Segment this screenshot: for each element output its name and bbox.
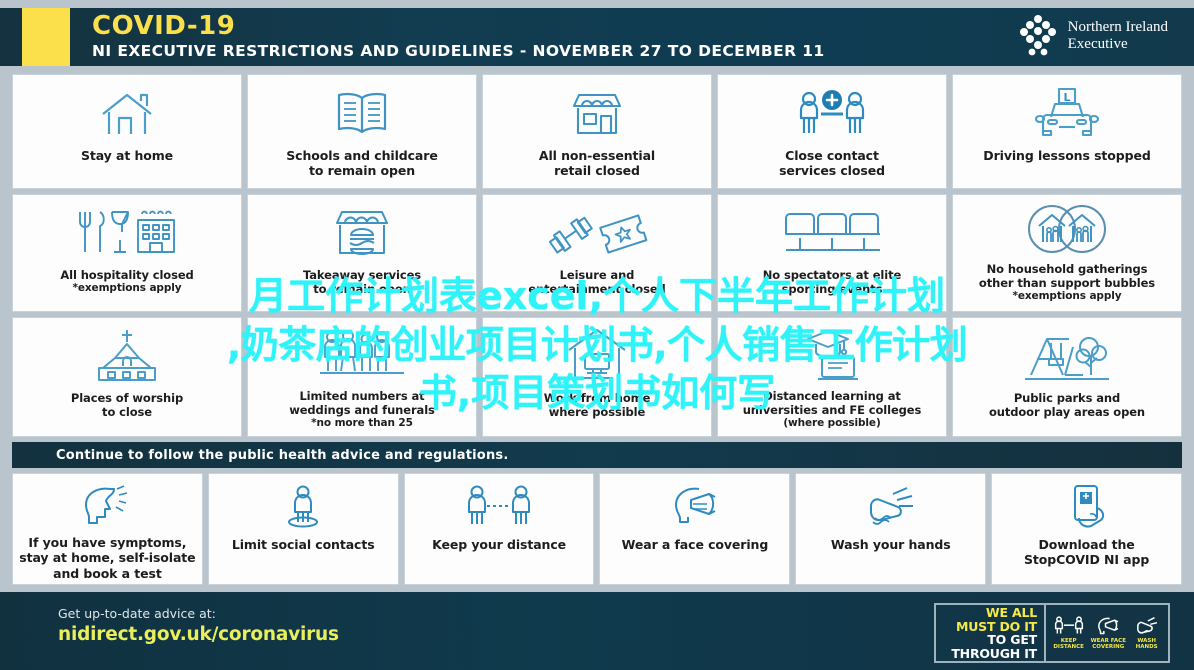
guideline-label: Distanced learning atuniversities and FE… [743,389,922,430]
badge-line-2: MUST DO IT [956,620,1037,634]
wear-face-covering-icon [1095,616,1121,636]
guideline-label: Takeaway servicesto remain open [303,268,421,296]
public-health-banner-text: Continue to follow the public health adv… [56,448,508,463]
guideline-label: Public parks andoutdoor play areas open [989,391,1145,419]
shopfront-icon [568,84,626,142]
flax-flower-crest-icon [1018,14,1058,58]
grid-row-1: Stay at home Schools and childcareto rem… [12,74,1182,189]
crest-line-1: Northern Ireland [1068,19,1168,36]
graduate-laptop-icon [794,327,870,383]
guideline-cell: L Driving lessons stopped [952,74,1182,189]
phone-app-icon [1059,483,1115,531]
guideline-label: Wash your hands [831,537,951,552]
crest-name: Northern Ireland Executive [1068,19,1168,53]
guideline-cell: Wash your hands [795,473,986,585]
guideline-cell: Takeaway servicesto remain open [247,194,477,312]
distance-people-icon [462,483,536,531]
single-person-icon [277,483,329,531]
guideline-label: Stay at home [81,148,173,163]
covid-guidelines-poster: COVID-19 NI EXECUTIVE RESTRICTIONS AND G… [0,0,1194,670]
guideline-note: (where possible) [743,417,922,430]
takeaway-burger-icon [331,204,393,262]
guideline-cell: Download theStopCOVID NI app [991,473,1182,585]
guideline-cell: Limit social contacts [208,473,399,585]
footer-advice-label: Get up-to-date advice at: [58,606,339,621]
guideline-label: Leisure andentertainment closed [528,268,665,296]
we-all-must-do-it-badge: WE ALL MUST DO IT TO GET THROUGH IT KEEP… [934,603,1170,663]
coughing-head-icon [76,483,138,529]
header-yellow-accent [22,8,70,66]
badge-line-4: THROUGH IT [951,647,1037,661]
stadium-seats-icon [784,204,880,262]
wash-hands-icon [1133,616,1161,636]
washing-hands-icon [859,483,923,531]
guideline-cell: Work from homewhere possible [482,317,712,437]
guideline-label: Download theStopCOVID NI app [1024,537,1149,568]
guideline-label: Limit social contacts [232,537,375,552]
guideline-cell: Leisure andentertainment closed [482,194,712,312]
guideline-note: *exemptions apply [60,282,193,295]
guideline-cell: Close contactservices closed [717,74,947,189]
guideline-note: *no more than 25 [289,417,435,430]
grid-row-3: Places of worshipto close Limited number… [12,317,1182,437]
badge-line-3: TO GET [987,633,1037,647]
northern-ireland-executive-logo: Northern Ireland Executive [1018,14,1168,58]
guideline-label: No household gatheringsother than suppor… [979,262,1155,303]
park-swing-tree-icon [1021,327,1113,385]
cutlery-hotel-icon [72,204,182,262]
guideline-cell: Limited numbers atweddings and funerals … [247,317,477,437]
guideline-cell: Public parks andoutdoor play areas open [952,317,1182,437]
keep-distance-icon [1054,616,1084,636]
guideline-label: Places of worshipto close [71,391,183,419]
guideline-cell: No household gatheringsother than suppor… [952,194,1182,312]
badge-icon-item: WASHHANDS [1133,616,1161,650]
badge-icon-label: KEEPDISTANCE [1053,638,1084,650]
badge-icon-label: WEAR FACECOVERING [1091,638,1126,650]
church-icon [89,327,165,385]
header-text-block: COVID-19 NI EXECUTIVE RESTRICTIONS AND G… [92,8,825,66]
poster-footer: Get up-to-date advice at: nidirect.gov.u… [0,592,1194,670]
dumbbell-ticket-icon [545,204,649,262]
guideline-label: Schools and childcareto remain open [286,148,437,179]
badge-slogan: WE ALL MUST DO IT TO GET THROUGH IT [936,605,1044,661]
open-book-icon [333,84,391,142]
guideline-cell: No spectators at elitesporting events [717,194,947,312]
guideline-label: All hospitality closed *exemptions apply [60,268,193,295]
guidelines-grid: Stay at home Schools and childcareto rem… [12,74,1182,590]
svg-text:L: L [1063,91,1070,104]
badge-icon-item: WEAR FACECOVERING [1091,616,1126,650]
crest-line-2: Executive [1068,36,1168,53]
guideline-label: Keep your distance [432,537,566,552]
grid-row-4: If you have symptoms,stay at home, self-… [12,473,1182,585]
two-people-plus-icon [795,84,869,142]
home-desk-icon [559,327,635,385]
public-health-banner: Continue to follow the public health adv… [12,442,1182,468]
guideline-label: Driving lessons stopped [983,148,1150,163]
guideline-label: No spectators at elitesporting events [763,268,901,296]
guideline-note: *exemptions apply [979,290,1155,303]
grid-row-2: All hospitality closed *exemptions apply [12,194,1182,312]
guideline-cell: Places of worshipto close [12,317,242,437]
guideline-label: All non-essentialretail closed [539,148,655,179]
wedding-funeral-icon [314,327,410,383]
header-subtitle: NI EXECUTIVE RESTRICTIONS AND GUIDELINES… [92,42,825,61]
badge-icon-item: KEEPDISTANCE [1053,616,1084,650]
badge-icon-label: WASHHANDS [1136,638,1158,650]
house-icon [97,84,157,142]
guideline-cell: Distanced learning atuniversities and FE… [717,317,947,437]
guideline-label: Close contactservices closed [779,148,885,179]
guideline-cell: If you have symptoms,stay at home, self-… [12,473,203,585]
footer-url[interactable]: nidirect.gov.uk/coronavirus [58,624,339,645]
guideline-cell: All non-essentialretail closed [482,74,712,189]
badge-line-1: WE ALL [986,606,1037,620]
guideline-label: Work from homewhere possible [544,391,651,419]
page-title: COVID-19 [92,13,825,40]
guideline-cell: Schools and childcareto remain open [247,74,477,189]
guideline-cell: All hospitality closed *exemptions apply [12,194,242,312]
face-mask-icon [667,483,723,531]
two-households-icon [1019,204,1115,256]
guideline-label: Limited numbers atweddings and funerals … [289,389,435,430]
guideline-cell: Wear a face covering [599,473,790,585]
guideline-label: If you have symptoms,stay at home, self-… [19,535,195,581]
guideline-cell: Keep your distance [404,473,595,585]
guideline-label: Wear a face covering [622,537,769,552]
footer-advice-block: Get up-to-date advice at: nidirect.gov.u… [58,606,339,645]
guideline-cell: Stay at home [12,74,242,189]
learner-car-icon: L [1033,84,1101,142]
badge-icon-group: KEEPDISTANCE WEAR FACECOVERING [1044,605,1168,661]
